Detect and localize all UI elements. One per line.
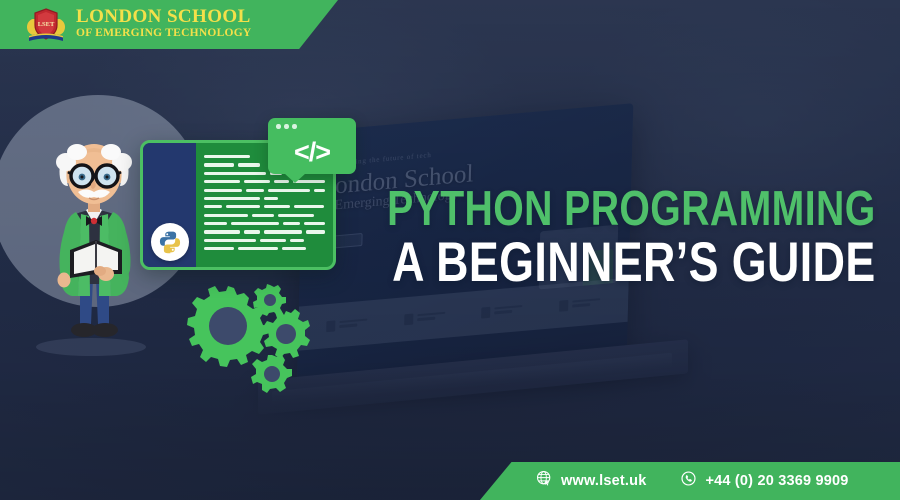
code-token — [204, 230, 240, 233]
professor-character — [34, 128, 154, 350]
code-badge: </> — [268, 118, 356, 174]
code-token — [204, 189, 242, 192]
code-token — [204, 247, 234, 250]
code-token — [244, 180, 270, 183]
code-token — [204, 214, 248, 217]
gears-icon — [186, 282, 318, 399]
title-line-1: PYTHON PROGRAMMING — [388, 186, 877, 233]
lset-crest-icon: LSET — [24, 3, 68, 47]
code-line — [204, 180, 325, 183]
footer-phone[interactable]: +44 (0) 20 3369 9909 — [680, 470, 848, 492]
code-token — [238, 163, 260, 166]
code-token — [204, 163, 234, 166]
brand-line-1: LONDON SCHOOL — [76, 7, 251, 26]
code-token — [204, 172, 266, 175]
footer-website[interactable]: www.lset.uk — [536, 470, 646, 492]
code-token — [226, 205, 260, 208]
code-token — [204, 180, 240, 183]
website-text: www.lset.uk — [561, 473, 646, 489]
code-token — [204, 197, 260, 200]
page-title: PYTHON PROGRAMMING A BEGINNER’S GUIDE — [265, 186, 876, 289]
phone-text: +44 (0) 20 3369 9909 — [705, 473, 848, 489]
code-symbol-icon: </> — [268, 130, 356, 174]
header-bar: LSET LONDON SCHOOL OF EMERGING TECHNOLOG… — [0, 0, 338, 49]
window-dots-icon — [276, 124, 297, 129]
title-line-2: A BEGINNER’S GUIDE — [388, 235, 877, 289]
code-token — [204, 155, 250, 158]
code-token — [204, 222, 227, 225]
globe-icon — [536, 470, 553, 492]
code-token — [246, 189, 265, 192]
footer-bar: www.lset.uk +44 (0) 20 3369 9909 — [480, 462, 900, 500]
promo-banner: Empowering the future of tech London Sch… — [0, 0, 900, 500]
svg-text:LSET: LSET — [38, 21, 55, 28]
phone-icon — [680, 470, 697, 492]
code-token — [244, 230, 259, 233]
code-token — [204, 239, 256, 242]
brand-line-2: OF EMERGING TECHNOLOGY — [76, 28, 251, 40]
code-token — [204, 205, 222, 208]
python-logo-icon — [151, 223, 189, 261]
brand-text: LONDON SCHOOL OF EMERGING TECHNOLOGY — [76, 7, 251, 42]
